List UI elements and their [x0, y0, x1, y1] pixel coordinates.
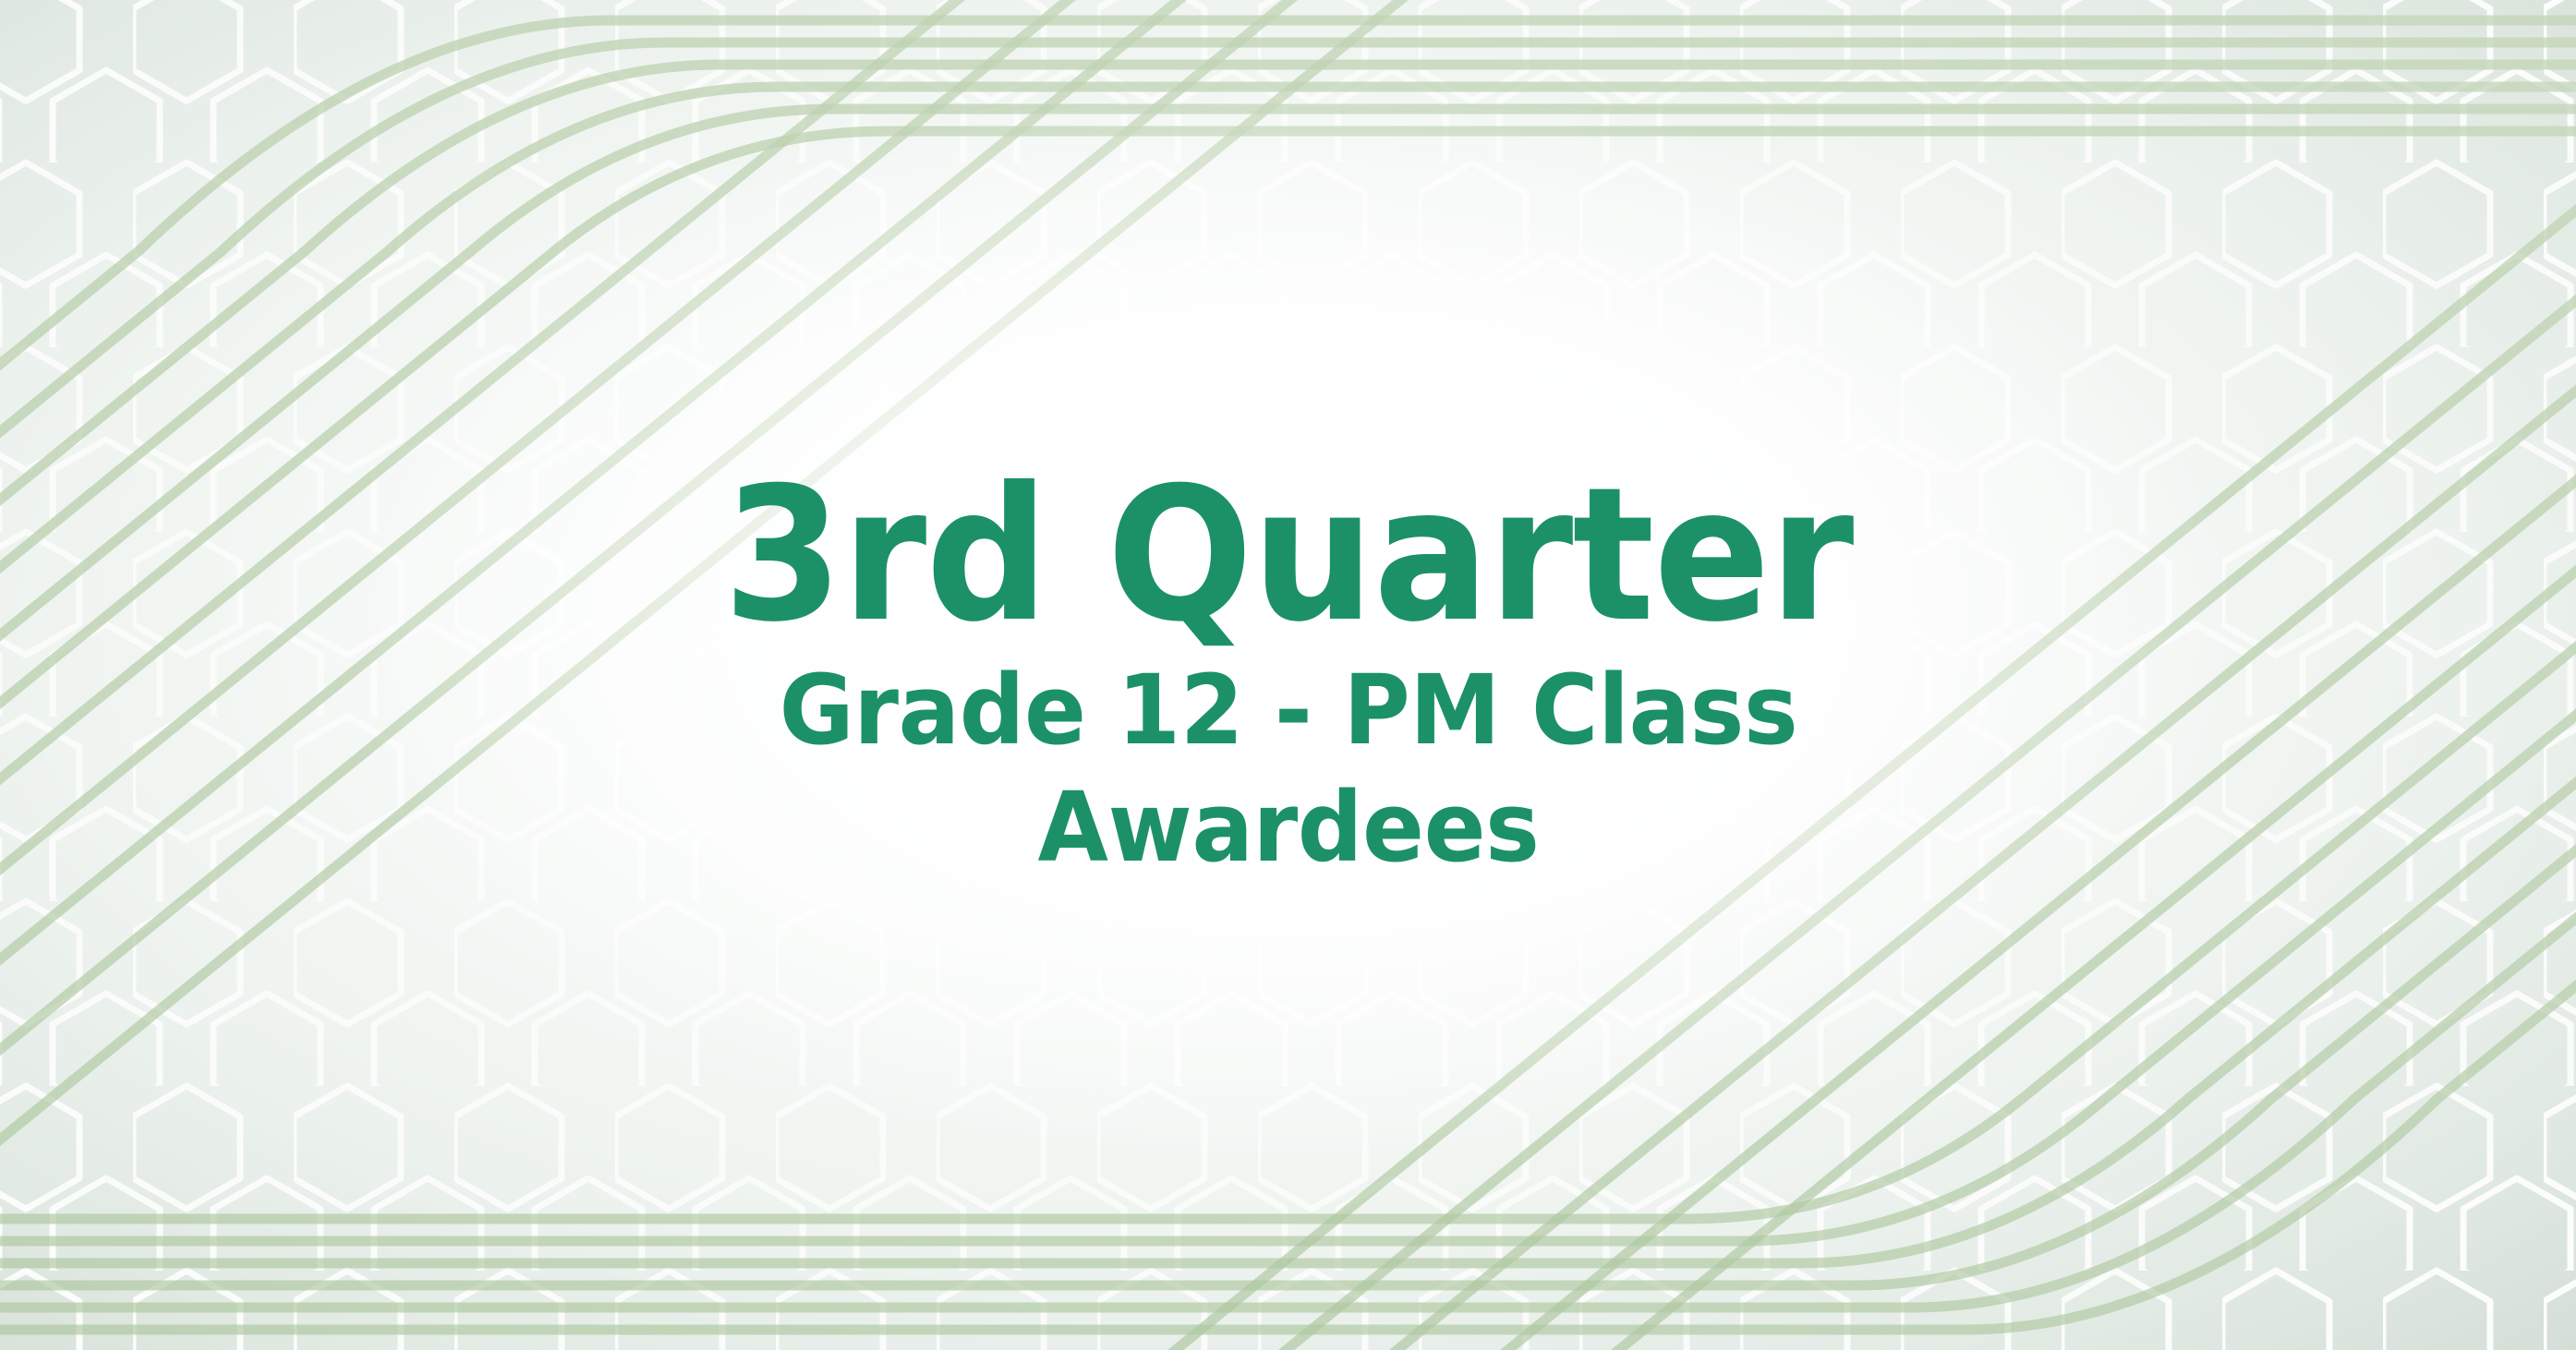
presentation-slide: 3rd Quarter Grade 12 - PM Class Awardees: [0, 0, 2576, 1350]
subtitle-line-1: Grade 12 - PM Class: [779, 654, 1797, 766]
slide-text-block: 3rd Quarter Grade 12 - PM Class Awardees: [0, 0, 2576, 1350]
subtitle-line-2: Awardees: [1037, 771, 1539, 884]
slide-title: 3rd Quarter: [723, 464, 1853, 648]
slide-subtitle: Grade 12 - PM Class Awardees: [748, 652, 1828, 886]
